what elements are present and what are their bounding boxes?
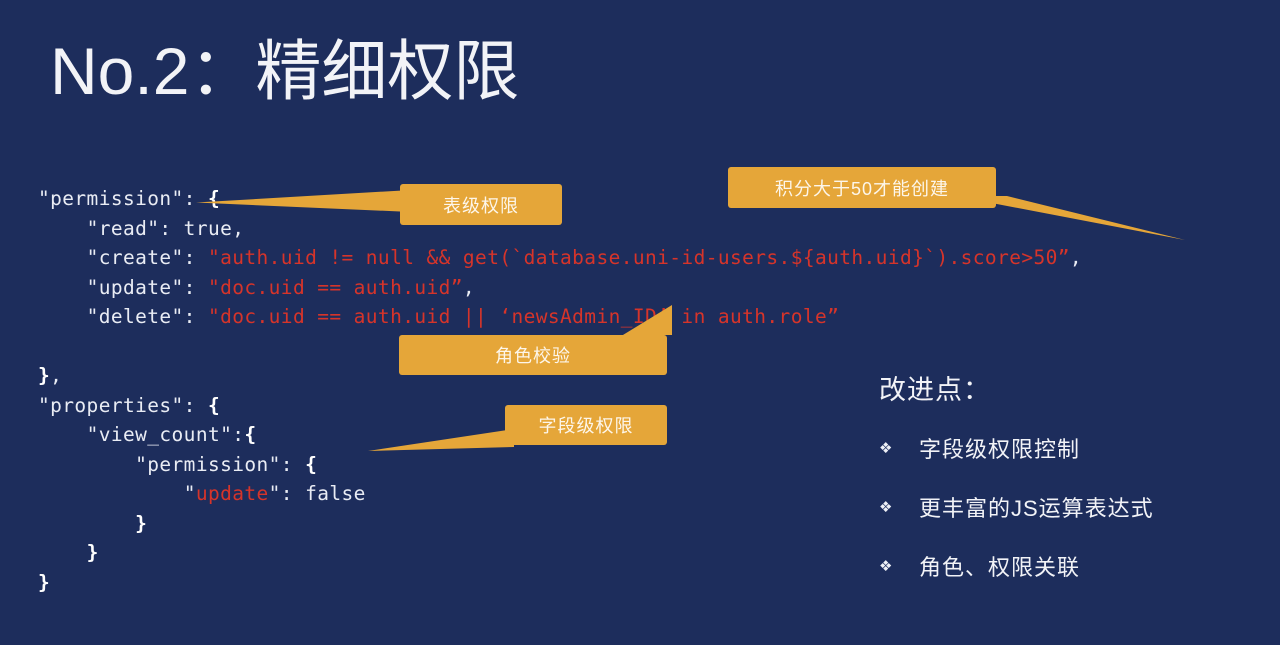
code-token: "update": xyxy=(87,276,208,299)
code-token: , xyxy=(463,276,475,299)
code-token: "auth.uid != null && get(`database.uni-i… xyxy=(208,246,1070,269)
code-token: " xyxy=(184,482,196,505)
code-token: } xyxy=(38,571,50,594)
callout-label: 角色校验 xyxy=(495,342,571,368)
code-token: "doc.uid == auth.uid” xyxy=(208,276,463,299)
improvement-label: 字段级权限控制 xyxy=(919,432,1080,464)
code-line: "create": "auth.uid != null && get(`data… xyxy=(38,243,1082,273)
improvements-heading: 改进点： xyxy=(879,368,991,407)
improvement-item: ❖更丰富的JS运算表达式 xyxy=(879,491,1219,523)
code-token: { xyxy=(305,453,317,476)
improvement-label: 角色、权限关联 xyxy=(919,550,1080,582)
code-token: , xyxy=(1070,246,1082,269)
code-token: } xyxy=(135,512,147,535)
callout-label: 积分大于50才能创建 xyxy=(775,175,949,201)
page-title: No.2：精细权限 xyxy=(50,34,519,110)
code-line: "update": "doc.uid == auth.uid”, xyxy=(38,273,1082,303)
code-token: "properties": xyxy=(38,394,208,417)
callout-role-validation[interactable]: 角色校验 xyxy=(399,335,667,375)
improvement-item: ❖角色、权限关联 xyxy=(879,550,1219,582)
callout-label: 表级权限 xyxy=(443,192,519,218)
callout-table-level-permission[interactable]: 表级权限 xyxy=(400,184,562,225)
code-token: "doc.uid == auth.uid || ‘newsAdmin_ID’ i… xyxy=(208,305,839,328)
improvement-item: ❖字段级权限控制 xyxy=(879,432,1219,464)
callout-pointer-field-level-permission xyxy=(368,427,514,455)
slide-canvas: No.2：精细权限 "permission": { "read": true, … xyxy=(0,0,1280,645)
code-token: ": false xyxy=(269,482,366,505)
code-token: { xyxy=(208,394,220,417)
diamond-bullet-icon: ❖ xyxy=(879,498,919,516)
callout-label: 字段级权限 xyxy=(539,412,634,438)
code-token: { xyxy=(244,423,256,446)
diamond-bullet-icon: ❖ xyxy=(879,439,919,457)
code-token: "create": xyxy=(87,246,208,269)
improvement-label: 更丰富的JS运算表达式 xyxy=(919,491,1154,523)
callout-pointer-table-level-permission xyxy=(196,188,411,216)
diamond-bullet-icon: ❖ xyxy=(879,557,919,575)
callout-field-level-permission[interactable]: 字段级权限 xyxy=(505,405,667,445)
code-token: "view_count": xyxy=(87,423,245,446)
callout-score-over-50-can-create[interactable]: 积分大于50才能创建 xyxy=(728,167,996,208)
code-token: } xyxy=(87,541,99,564)
code-token: update xyxy=(196,482,269,505)
code-token: "delete": xyxy=(87,305,208,328)
code-token: "permission": xyxy=(135,453,305,476)
code-token: , xyxy=(50,364,62,387)
improvements-list: ❖字段级权限控制❖更丰富的JS运算表达式❖角色、权限关联 xyxy=(879,432,1219,609)
code-token: "read": true, xyxy=(87,217,245,240)
code-token: "permission": xyxy=(38,187,208,210)
code-token: } xyxy=(38,364,50,387)
code-line: "delete": "doc.uid == auth.uid || ‘newsA… xyxy=(38,302,1082,332)
